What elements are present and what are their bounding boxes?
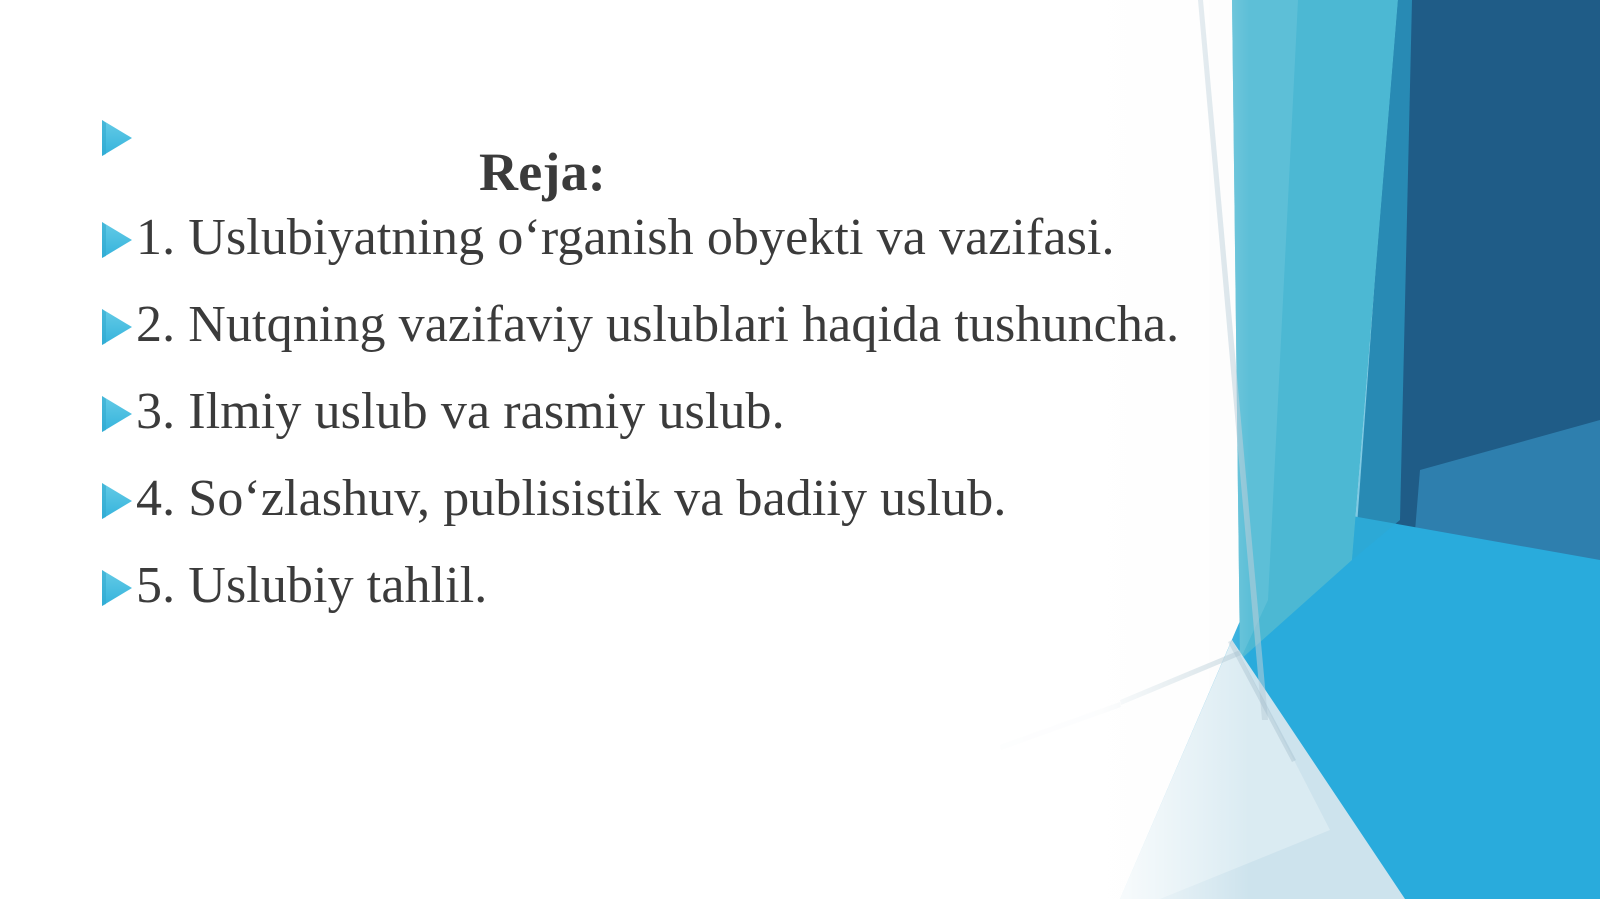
page-title: Reja: xyxy=(0,144,1085,201)
bullet-list: 1. Uslubiyatning o‘rganish obyekti va va… xyxy=(100,196,1400,631)
list-item: 2. Nutqning vazifaviy uslublari haqida t… xyxy=(100,283,1400,370)
list-item: 5. Uslubiy tahlil. xyxy=(100,544,1400,631)
list-item-label: 5. Uslubiy tahlil. xyxy=(136,559,1400,612)
triangle-right-icon xyxy=(100,481,134,521)
triangle-right-icon xyxy=(100,568,134,608)
list-item: 1. Uslubiyatning o‘rganish obyekti va va… xyxy=(100,196,1400,283)
list-item-label: 2. Nutqning vazifaviy uslublari haqida t… xyxy=(136,298,1400,351)
triangle-right-icon xyxy=(100,394,134,434)
triangle-right-icon xyxy=(100,220,134,260)
triangle-right-icon xyxy=(100,307,134,347)
list-item: 3. Ilmiy uslub va rasmiy uslub. xyxy=(100,370,1400,457)
list-item: 4. So‘zlashuv, publisistik va badiiy usl… xyxy=(100,457,1400,544)
list-item-label: 4. So‘zlashuv, publisistik va badiiy usl… xyxy=(136,472,1400,525)
slide-content: Reja: 1. Uslubiyatning o‘rganish obyekti… xyxy=(0,0,1600,899)
presentation-slide: Reja: 1. Uslubiyatning o‘rganish obyekti… xyxy=(0,0,1600,899)
list-item-label: 3. Ilmiy uslub va rasmiy uslub. xyxy=(136,385,1400,438)
list-item-label: 1. Uslubiyatning o‘rganish obyekti va va… xyxy=(136,211,1400,264)
